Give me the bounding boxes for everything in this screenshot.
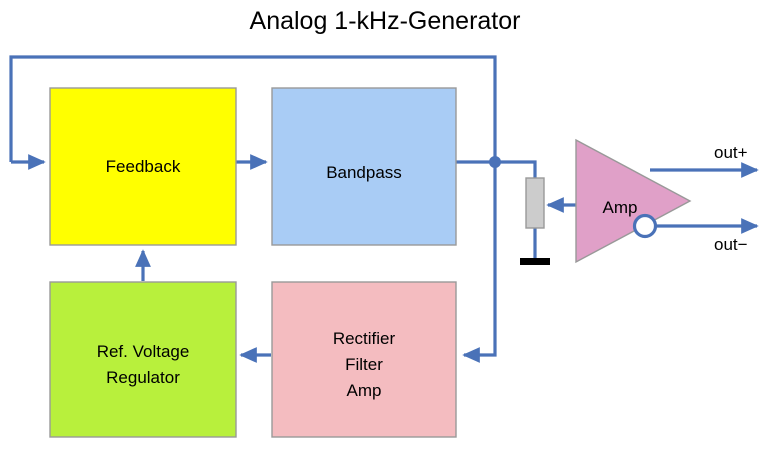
regulator-block-label-line2: Regulator bbox=[106, 368, 180, 387]
block-bandpass[interactable]: Bandpass bbox=[272, 88, 456, 245]
ground-symbol bbox=[520, 258, 550, 265]
bandpass-block-label: Bandpass bbox=[326, 163, 402, 182]
diagram-canvas: Analog 1-kHz-Generator bbox=[0, 0, 770, 452]
ground-icon bbox=[520, 258, 550, 265]
block-diagram: Analog 1-kHz-Generator bbox=[0, 0, 770, 452]
diagram-title: Analog 1-kHz-Generator bbox=[250, 7, 521, 35]
out-negative-label: out− bbox=[714, 235, 748, 254]
inverting-bubble-icon bbox=[635, 216, 656, 237]
regulator-block-label-line1: Ref. Voltage bbox=[97, 342, 190, 361]
rectifier-block-label-line2: Filter bbox=[345, 355, 383, 374]
wire-junction-dot bbox=[489, 156, 501, 168]
block-rectifier-filter-amp[interactable]: Rectifier Filter Amp bbox=[272, 282, 456, 437]
block-ref-voltage-regulator[interactable]: Ref. Voltage Regulator bbox=[50, 282, 236, 437]
block-feedback[interactable]: Feedback bbox=[50, 88, 236, 245]
resistor[interactable] bbox=[526, 178, 544, 228]
feedback-block-label: Feedback bbox=[106, 157, 181, 176]
rectifier-block-label-line1: Rectifier bbox=[333, 329, 396, 348]
rectifier-block-label-line3: Amp bbox=[347, 381, 382, 400]
block-amp[interactable]: Amp bbox=[576, 140, 690, 262]
resistor-shape bbox=[526, 178, 544, 228]
wire-junction-to-rectifier bbox=[464, 162, 495, 355]
out-positive-label: out+ bbox=[714, 143, 748, 162]
amp-block-label: Amp bbox=[603, 198, 638, 217]
